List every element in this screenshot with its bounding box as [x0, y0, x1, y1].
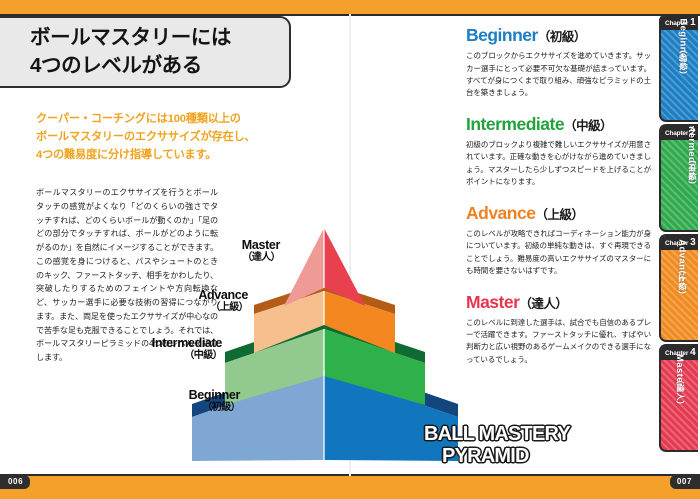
levels-column: Beginner（初級） このブロックからエクササイズを進めていきます。サッカー…: [466, 26, 651, 382]
level-body-master: このレベルに到達した選手は、試合でも自信のあるプレーで活躍できます。ファーストタ…: [466, 317, 651, 366]
pyramid-label-intermediate-en: Intermediate: [152, 336, 222, 350]
chapter-tab-4-index: 4: [690, 348, 695, 358]
chapter-tab-4-body: Master （達人）: [661, 360, 698, 404]
level-block-advance: Advance（上級） このレベルが攻略できればコーディネーション能力が身につい…: [466, 204, 651, 277]
level-block-intermediate: Intermediate（中級） 初級のブロックより複雑で難しいエクササイズが用…: [466, 115, 651, 188]
level-body-advance: このレベルが攻略できればコーディネーション能力が身についています。初級の単純な動…: [466, 228, 651, 277]
chapter-index[interactable]: Chapter 1 Beginner （初級） Chapter 2 Interm…: [659, 14, 698, 454]
lead-line-1: クーパー・コーチングには100種類以上の: [36, 110, 296, 128]
page-title: ボールマスタリーには 4つのレベルがある: [0, 16, 291, 88]
chapter-tab-1-body: Beginner （初級）: [661, 30, 698, 74]
pyramid-label-master-en: Master: [242, 238, 280, 252]
title-line-1: ボールマスタリーには: [30, 24, 289, 52]
chapter-tab-3-title: Advance （上級）: [661, 250, 698, 294]
level-block-beginner: Beginner（初級） このブロックからエクササイズを進めていきます。サッカー…: [466, 26, 651, 99]
pyramid-label-beginner-en: Beginner: [189, 388, 240, 402]
chapter-tab-1-title: Beginner （初級）: [661, 30, 698, 74]
level-heading-advance: Advance（上級）: [466, 204, 651, 222]
chapter-tab-4-title: Master （達人）: [663, 360, 697, 404]
chapter-tab-4-jp: （達人）: [674, 376, 685, 410]
chapter-tab-1-jp: （初級）: [678, 46, 689, 80]
pyramid-label-beginner: Beginner （初級）: [189, 388, 240, 413]
lead-line-3: 4つの難易度に分け指導しています。: [36, 146, 296, 164]
chapter-tab-3-jp: （上級）: [677, 266, 688, 300]
page-number-right: 007: [670, 475, 700, 490]
level-heading-intermediate-jp: （中級）: [564, 119, 612, 133]
level-heading-master: Master（達人）: [466, 293, 651, 311]
pyramid-label-advance: Advance （上級）: [198, 288, 248, 313]
chapter-tab-2-label: Chapter: [665, 130, 688, 137]
pyramid-label-advance-en: Advance: [198, 288, 248, 302]
level-body-beginner: このブロックからエクササイズを進めていきます。サッカー選手にとって必要不可欠な基…: [466, 50, 651, 99]
pyramid-wordmark: BALL MASTERY PYRAMID: [424, 424, 570, 467]
chapter-tab-3-body: Advance （上級）: [661, 250, 698, 294]
level-heading-advance-en: Advance: [466, 203, 535, 223]
pyramid-wordmark-line-1: BALL MASTERY: [424, 423, 570, 445]
chapter-tab-2-body: Intermediate （中級）: [661, 140, 698, 184]
chapter-tab-3[interactable]: Chapter 3 Advance （上級）: [659, 234, 698, 342]
level-heading-intermediate-en: Intermediate: [466, 114, 564, 134]
chapter-tab-2-title: Intermediate （中級）: [661, 140, 698, 184]
level-heading-intermediate: Intermediate（中級）: [466, 115, 651, 133]
pyramid-label-beginner-jp: （初級）: [189, 402, 240, 413]
chapter-tab-2-jp: （中級）: [686, 156, 697, 190]
level-heading-beginner: Beginner（初級）: [466, 26, 651, 44]
lead-paragraph: クーパー・コーチングには100種類以上の ボールマスタリーのエクササイズが存在し…: [36, 110, 296, 164]
level-block-master: Master（達人） このレベルに到達した選手は、試合でも自信のあるプレーで活躍…: [466, 293, 651, 366]
pyramid-label-master-jp: （達人）: [242, 252, 280, 263]
level-heading-master-jp: （達人）: [519, 297, 567, 311]
chapter-tab-2[interactable]: Chapter 2 Intermediate （中級）: [659, 124, 698, 232]
book-spread: ボールマスタリーには 4つのレベルがある クーパー・コーチングには100種類以上…: [0, 0, 700, 499]
chapter-tab-1[interactable]: Chapter 1 Beginner （初級）: [659, 14, 698, 122]
pyramid-label-advance-jp: （上級）: [198, 302, 248, 313]
pyramid-label-master: Master （達人）: [242, 238, 280, 263]
level-heading-master-en: Master: [466, 292, 519, 312]
level-heading-beginner-jp: （初級）: [538, 30, 586, 44]
level-body-intermediate: 初級のブロックより複雑で難しいエクササイズが用意されています。正確な動きを心がけ…: [466, 139, 651, 188]
pyramid-wordmark-line-2: PYRAMID: [424, 446, 570, 468]
chapter-tab-3-index: 3: [690, 238, 695, 248]
lead-line-2: ボールマスタリーのエクササイズが存在し、: [36, 128, 296, 146]
level-heading-beginner-en: Beginner: [466, 25, 538, 45]
title-line-2: 4つのレベルがある: [30, 52, 289, 80]
pyramid-label-intermediate-jp: （中級）: [152, 350, 222, 361]
page-number-left: 006: [0, 475, 30, 490]
chapter-tab-4[interactable]: Chapter 4 Master （達人）: [659, 344, 698, 452]
level-heading-advance-jp: （上級）: [535, 208, 583, 222]
chapter-tab-1-index: 1: [690, 18, 695, 28]
pyramid-label-intermediate: Intermediate （中級）: [152, 336, 222, 361]
